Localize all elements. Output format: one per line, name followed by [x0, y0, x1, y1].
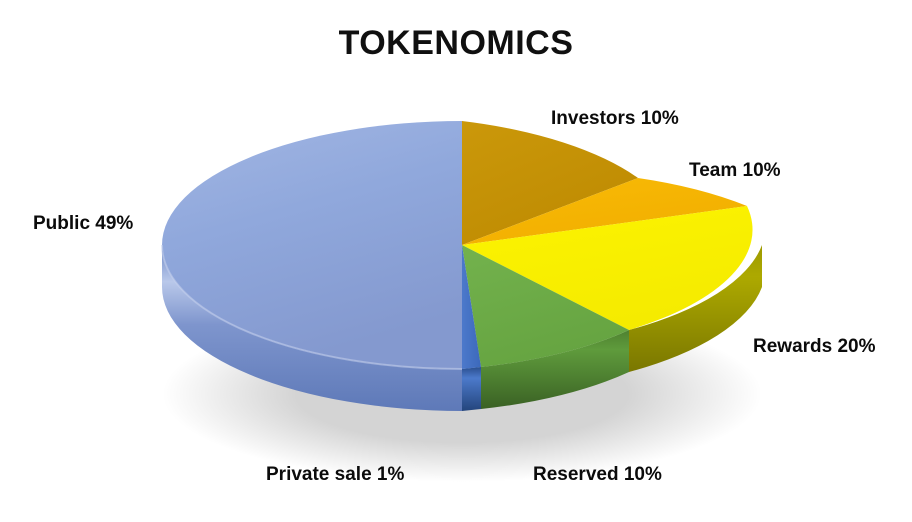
- pie-label-private-sale: Private sale 1%: [266, 464, 404, 486]
- pie-label-rewards: Rewards 20%: [753, 336, 876, 358]
- pie-label-investors: Investors 10%: [551, 108, 679, 130]
- pie-label-team: Team 10%: [689, 160, 781, 182]
- pie-svg: [0, 0, 912, 522]
- pie-side-private-sale: [462, 367, 481, 411]
- pie-label-reserved: Reserved 10%: [533, 464, 662, 486]
- pie-chart-graphic: Investors 10% Team 10% Rewards 20% Reser…: [0, 0, 912, 522]
- pie-chart-page: TOKENOMICS: [0, 0, 912, 522]
- pie-label-public: Public 49%: [33, 213, 133, 235]
